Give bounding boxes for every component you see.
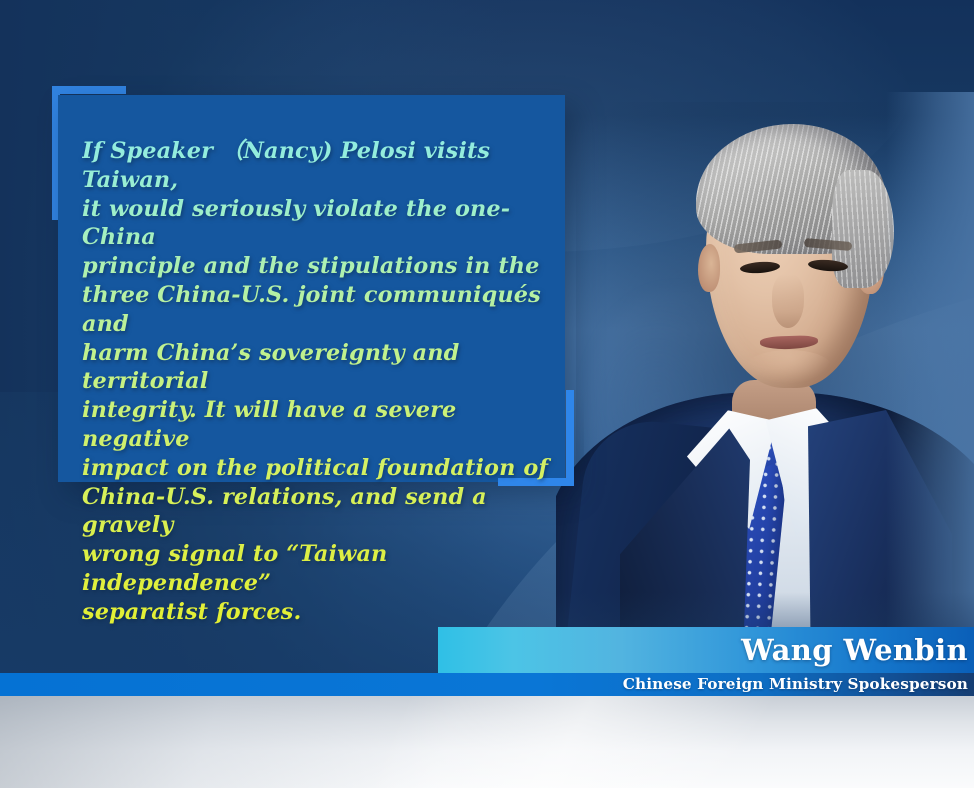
speaker-role: Chinese Foreign Ministry Spokesperson	[623, 673, 968, 696]
quote-text: If Speaker （Nancy) Pelosi visits Taiwan,…	[82, 137, 552, 627]
speaker-name: Wang Wenbin	[741, 629, 968, 672]
bottom-strip	[0, 696, 974, 788]
quote-graphic: If Speaker （Nancy) Pelosi visits Taiwan,…	[0, 0, 974, 788]
